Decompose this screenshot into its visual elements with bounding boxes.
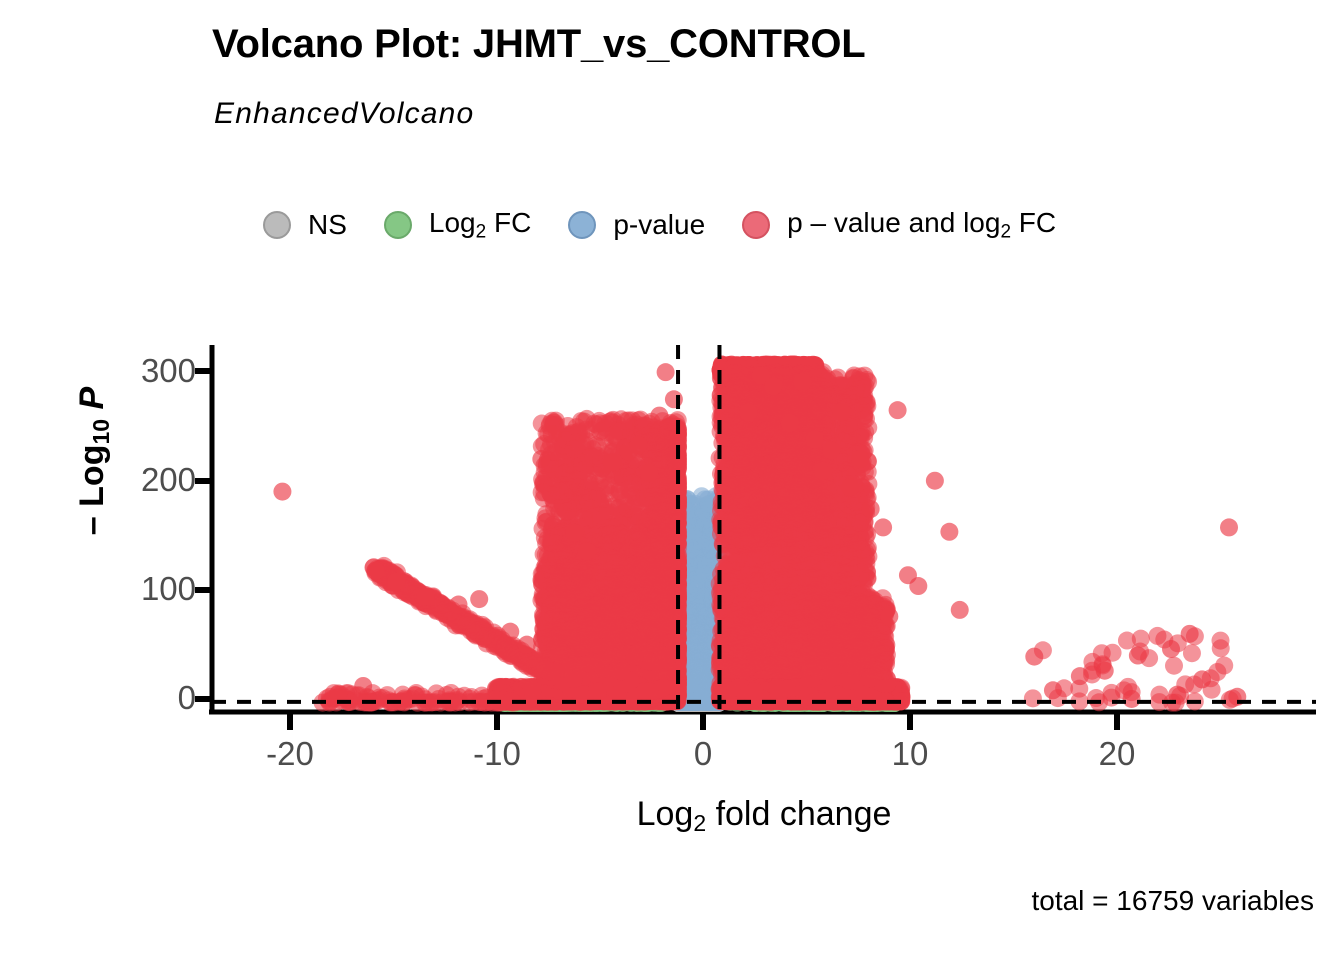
legend-key-pvalue bbox=[557, 211, 607, 239]
x-tick-label-0: 0 bbox=[643, 735, 763, 773]
x-tick-label-20: 20 bbox=[1057, 735, 1177, 773]
legend-label-ns: NS bbox=[302, 209, 373, 241]
legend-label-log2fc: Log2 FC bbox=[423, 207, 557, 243]
plot-panel[interactable] bbox=[212, 345, 1316, 712]
volcano-plot-figure: Volcano Plot: JHMT_vs_CONTROL EnhancedVo… bbox=[0, 0, 1344, 960]
legend-label-pvalue: p-value bbox=[607, 209, 731, 241]
y-tick-label-200: 200 bbox=[76, 461, 196, 499]
legend-dot-pvalue-log2fc-icon bbox=[742, 211, 770, 239]
x-axis-title: Log2 fold change bbox=[212, 795, 1316, 837]
chart-legend: NS Log2 FC p-value p – value and log2 FC bbox=[252, 200, 1082, 250]
x-tick-label-neg20: -20 bbox=[230, 735, 350, 773]
legend-dot-log2fc-icon bbox=[384, 211, 412, 239]
page-title: Volcano Plot: JHMT_vs_CONTROL bbox=[212, 22, 866, 67]
legend-item-pvalue-and-log2fc[interactable]: p – value and log2 FC bbox=[731, 207, 1082, 243]
legend-item-ns[interactable]: NS bbox=[252, 209, 373, 241]
y-tick-label-0: 0 bbox=[76, 679, 196, 717]
scatter-canvas[interactable] bbox=[212, 345, 1316, 712]
points-group-pvalue-and-log2fc bbox=[273, 356, 1246, 712]
legend-key-pvalue-and-log2fc bbox=[731, 211, 781, 239]
legend-item-log2fc[interactable]: Log2 FC bbox=[373, 207, 557, 243]
legend-key-log2fc bbox=[373, 211, 423, 239]
legend-item-pvalue[interactable]: p-value bbox=[557, 209, 731, 241]
y-tick-label-300: 300 bbox=[76, 352, 196, 390]
y-tick-label-100: 100 bbox=[76, 570, 196, 608]
chart-caption: total = 16759 variables bbox=[1031, 885, 1314, 917]
legend-label-pvalue-and-log2fc: p – value and log2 FC bbox=[781, 207, 1082, 243]
plot-subtitle: EnhancedVolcano bbox=[214, 97, 474, 131]
legend-dot-ns-icon bbox=[263, 211, 291, 239]
x-tick-label-10: 10 bbox=[850, 735, 970, 773]
legend-dot-pvalue-icon bbox=[568, 211, 596, 239]
legend-key-ns bbox=[252, 211, 302, 239]
x-tick-label-neg10: -10 bbox=[437, 735, 557, 773]
